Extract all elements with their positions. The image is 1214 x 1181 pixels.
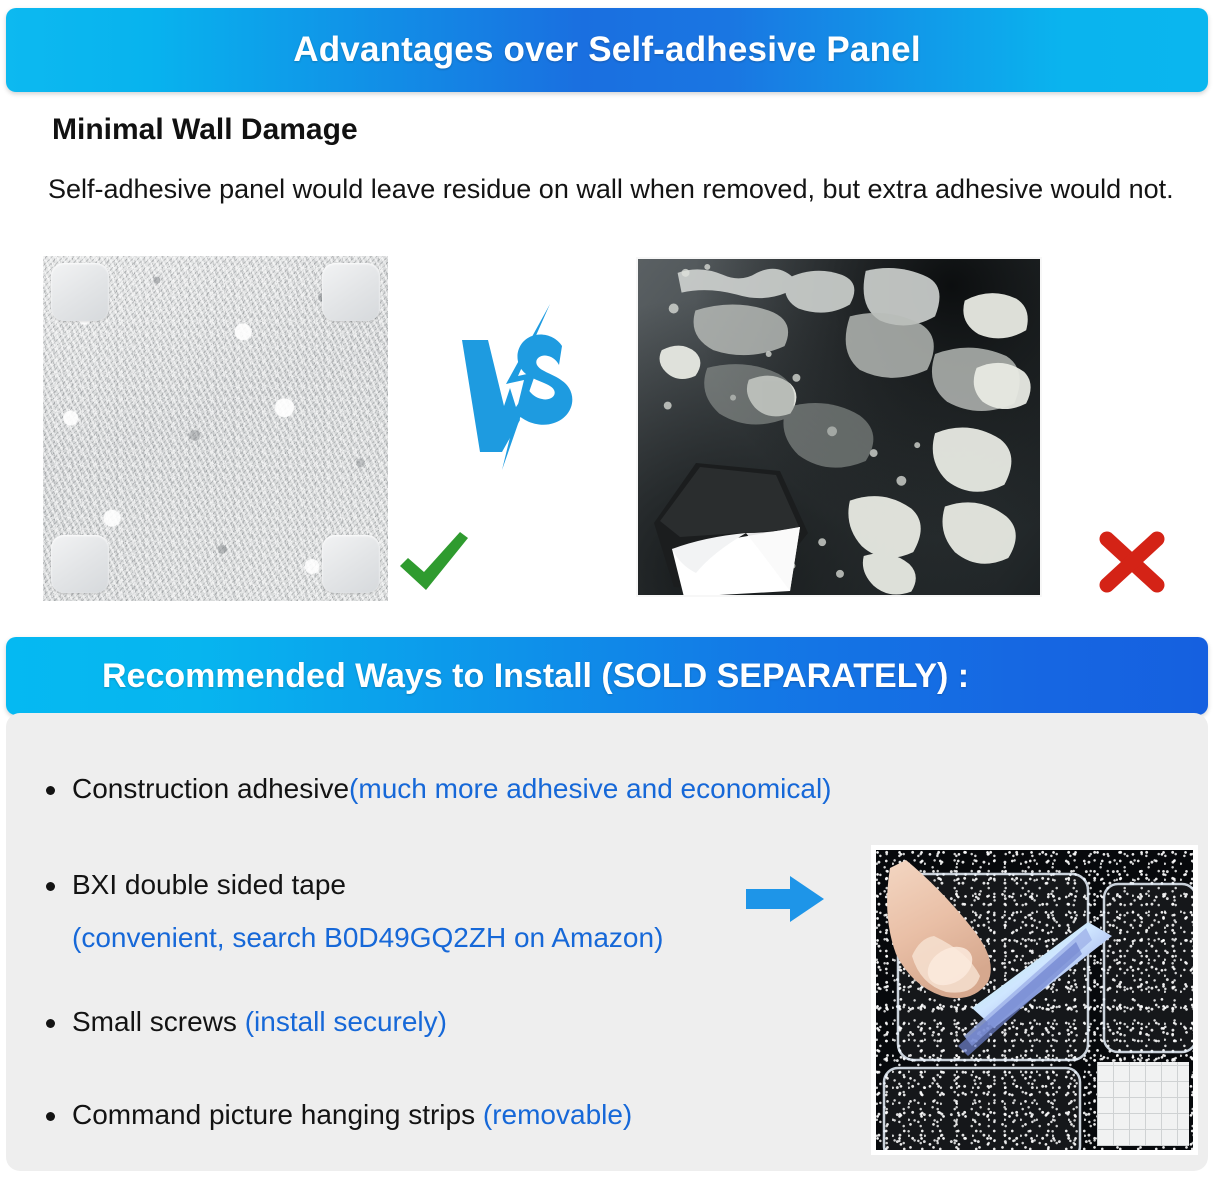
adhesive-pad-top-left: [51, 263, 109, 321]
infographic-page: Advantages over Self-adhesive Panel Mini…: [0, 0, 1214, 1181]
bullet-main-text: BXI double sided tape: [72, 869, 346, 900]
mid-banner-title: Recommended Ways to Install (SOLD SEPARA…: [102, 657, 969, 696]
bullet-dot-icon: [46, 1112, 55, 1121]
bullet-main-text: Construction adhesive: [72, 773, 349, 804]
bullet-note-text: (removable): [483, 1099, 632, 1130]
felt-panel-photo: [43, 256, 388, 601]
arrow-right-icon: [746, 876, 824, 922]
list-item: Construction adhesive(much more adhesive…: [34, 770, 1034, 808]
bullet-main-text: Small screws: [72, 1006, 245, 1037]
peeling-hexagon-panel: [650, 441, 820, 597]
x-mark-icon: [1094, 527, 1170, 597]
bullet-note-text: (much more adhesive and economical): [349, 773, 831, 804]
adhesive-pad-bottom-left: [51, 535, 109, 593]
section-heading-minimal-wall-damage: Minimal Wall Damage: [52, 113, 358, 147]
bullet-dot-icon: [46, 786, 55, 795]
bullet-note-text: (install securely): [245, 1006, 447, 1037]
adhesive-pad-bottom-right: [322, 535, 380, 593]
double-sided-tape-photo: [871, 845, 1198, 1155]
check-mark-icon: [394, 524, 472, 596]
section-body-text: Self-adhesive panel would leave residue …: [48, 170, 1178, 208]
tape-grid-inset: [1097, 1062, 1189, 1146]
adhesive-pad-top-right: [322, 263, 380, 321]
top-banner: Advantages over Self-adhesive Panel: [6, 8, 1208, 92]
mid-banner: Recommended Ways to Install (SOLD SEPARA…: [6, 637, 1208, 715]
bullet-main-text: Command picture hanging strips: [72, 1099, 483, 1130]
bullet-dot-icon: [46, 882, 55, 891]
versus-icon: [458, 302, 588, 472]
top-banner-title: Advantages over Self-adhesive Panel: [293, 30, 921, 70]
bullet-dot-icon: [46, 1019, 55, 1028]
wall-residue-photo: [636, 257, 1042, 597]
